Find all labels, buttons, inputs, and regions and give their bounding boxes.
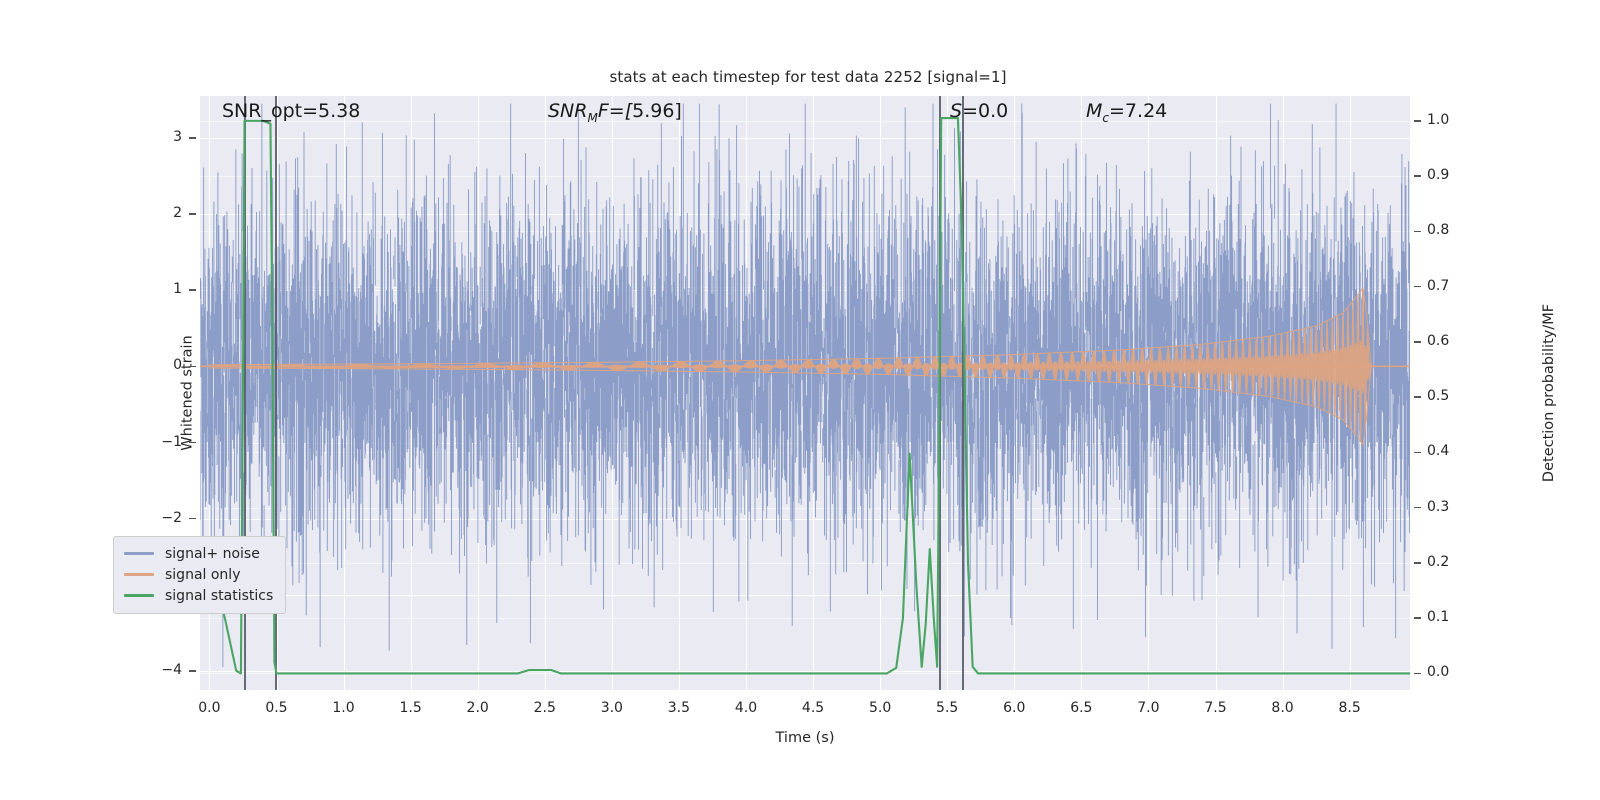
y-tick-label-left: 2 bbox=[150, 205, 182, 221]
x-tick-label: 3.0 bbox=[601, 700, 623, 716]
y-tick-mark-right bbox=[1414, 562, 1421, 563]
x-tick-label: 0.0 bbox=[198, 700, 220, 716]
x-tick-label: 7.5 bbox=[1204, 700, 1226, 716]
y-tick-mark-right bbox=[1414, 673, 1421, 674]
y-tick-label-right: 0.7 bbox=[1427, 278, 1449, 294]
legend-item-label: signal+ noise bbox=[165, 546, 260, 562]
annotation-mc-label: M bbox=[1086, 100, 1102, 122]
annotation-chirp-mass: Mc=7.24 bbox=[1086, 100, 1167, 125]
y-tick-mark-right bbox=[1414, 507, 1421, 508]
y-tick-label-right: 0.2 bbox=[1427, 554, 1449, 570]
y-tick-label-right: 0.8 bbox=[1427, 222, 1449, 238]
legend-item[interactable]: signal only bbox=[124, 564, 273, 585]
annotation-snr-opt-value: 5.38 bbox=[318, 100, 360, 122]
x-tick-label: 5.5 bbox=[936, 700, 958, 716]
annotation-s-label: S bbox=[950, 100, 962, 122]
y-tick-mark-left bbox=[189, 518, 196, 519]
legend-swatch-icon bbox=[124, 552, 154, 555]
figure-canvas: stats at each timestep for test data 225… bbox=[0, 0, 1600, 800]
annotation-snr-opt-label: SNR_opt= bbox=[222, 100, 318, 122]
chart-title: stats at each timestep for test data 225… bbox=[0, 68, 1600, 86]
x-tick-label: 8.0 bbox=[1271, 700, 1293, 716]
y-tick-label-left: 1 bbox=[150, 281, 182, 297]
y-tick-label-left: −1 bbox=[150, 434, 182, 450]
y-tick-mark-left bbox=[189, 442, 196, 443]
y-tick-label-right: 0.5 bbox=[1427, 388, 1449, 404]
y-tick-label-right: 1.0 bbox=[1427, 112, 1449, 128]
annotation-mc-value: =7.24 bbox=[1109, 100, 1167, 122]
x-tick-label: 1.5 bbox=[399, 700, 421, 716]
legend-item[interactable]: signal+ noise bbox=[124, 543, 273, 564]
series-signal-statistics bbox=[200, 96, 1410, 690]
y-tick-mark-right bbox=[1414, 120, 1421, 121]
y-tick-label-right: 0.1 bbox=[1427, 609, 1449, 625]
y-tick-label-left: −2 bbox=[150, 510, 182, 526]
annotation-snr-mf-suffix: ] bbox=[674, 100, 681, 122]
x-tick-label: 6.0 bbox=[1003, 700, 1025, 716]
x-tick-label: 4.0 bbox=[735, 700, 757, 716]
x-axis-label: Time (s) bbox=[0, 730, 1600, 746]
y-tick-mark-left bbox=[189, 366, 196, 367]
x-tick-label: 7.0 bbox=[1137, 700, 1159, 716]
y-tick-mark-right bbox=[1414, 396, 1421, 397]
y-tick-mark-left bbox=[189, 289, 196, 290]
y-tick-mark-right bbox=[1414, 231, 1421, 232]
x-axis-label-text: Time (s) bbox=[776, 730, 835, 746]
chart-title-text: stats at each timestep for test data 225… bbox=[609, 68, 1006, 86]
y-tick-label-right: 0.0 bbox=[1427, 664, 1449, 680]
annotation-snr-opt: SNR_opt=5.38 bbox=[222, 100, 360, 122]
annotation-snr-mf-prefix: SNR bbox=[548, 100, 587, 122]
y-axis-left-label: Whitened strain bbox=[180, 335, 196, 450]
annotation-snr-mf: SNRMF=[5.96] bbox=[548, 100, 682, 125]
x-tick-label: 1.0 bbox=[332, 700, 354, 716]
x-tick-label: 4.5 bbox=[802, 700, 824, 716]
legend-item-label: signal only bbox=[165, 567, 240, 583]
x-tick-label: 5.0 bbox=[869, 700, 891, 716]
y-axis-right-label: Detection probability/MF bbox=[1541, 304, 1557, 482]
x-tick-label: 2.0 bbox=[467, 700, 489, 716]
y-tick-label-left: −4 bbox=[150, 662, 182, 678]
x-tick-label: 0.5 bbox=[265, 700, 287, 716]
y-axis-right: Detection probability/MF bbox=[1468, 96, 1490, 690]
y-tick-mark-left bbox=[189, 137, 196, 138]
annotation-snr-mf-mid: F=[ bbox=[598, 100, 632, 122]
annotation-snr-mf-value: 5.96 bbox=[632, 100, 674, 122]
annotation-s-statistic: S=0.0 bbox=[950, 100, 1008, 122]
y-tick-mark-left bbox=[189, 213, 196, 214]
legend-swatch-icon bbox=[124, 573, 154, 576]
y-tick-mark-right bbox=[1414, 617, 1421, 618]
x-tick-label: 8.5 bbox=[1338, 700, 1360, 716]
legend-swatch-icon bbox=[124, 594, 154, 597]
y-tick-mark-right bbox=[1414, 452, 1421, 453]
statistics-trace bbox=[200, 118, 1410, 673]
y-tick-mark-right bbox=[1414, 286, 1421, 287]
legend-item-label: signal statistics bbox=[165, 588, 273, 604]
plot-area bbox=[200, 96, 1410, 690]
y-tick-label-right: 0.6 bbox=[1427, 333, 1449, 349]
y-tick-label-left: 0 bbox=[150, 357, 182, 373]
y-tick-mark-left bbox=[189, 670, 196, 671]
y-tick-label-right: 0.9 bbox=[1427, 167, 1449, 183]
annotation-s-value: =0.0 bbox=[962, 100, 1008, 122]
legend-item[interactable]: signal statistics bbox=[124, 585, 273, 606]
x-tick-label: 6.5 bbox=[1070, 700, 1092, 716]
y-tick-label-right: 0.3 bbox=[1427, 499, 1449, 515]
y-tick-mark-right bbox=[1414, 341, 1421, 342]
x-tick-label: 2.5 bbox=[534, 700, 556, 716]
annotation-snr-mf-sub: M bbox=[587, 111, 597, 125]
chart-legend: signal+ noisesignal onlysignal statistic… bbox=[113, 536, 286, 614]
y-tick-label-right: 0.4 bbox=[1427, 443, 1449, 459]
y-tick-label-left: 3 bbox=[150, 129, 182, 145]
x-tick-label: 3.5 bbox=[668, 700, 690, 716]
y-tick-mark-right bbox=[1414, 175, 1421, 176]
